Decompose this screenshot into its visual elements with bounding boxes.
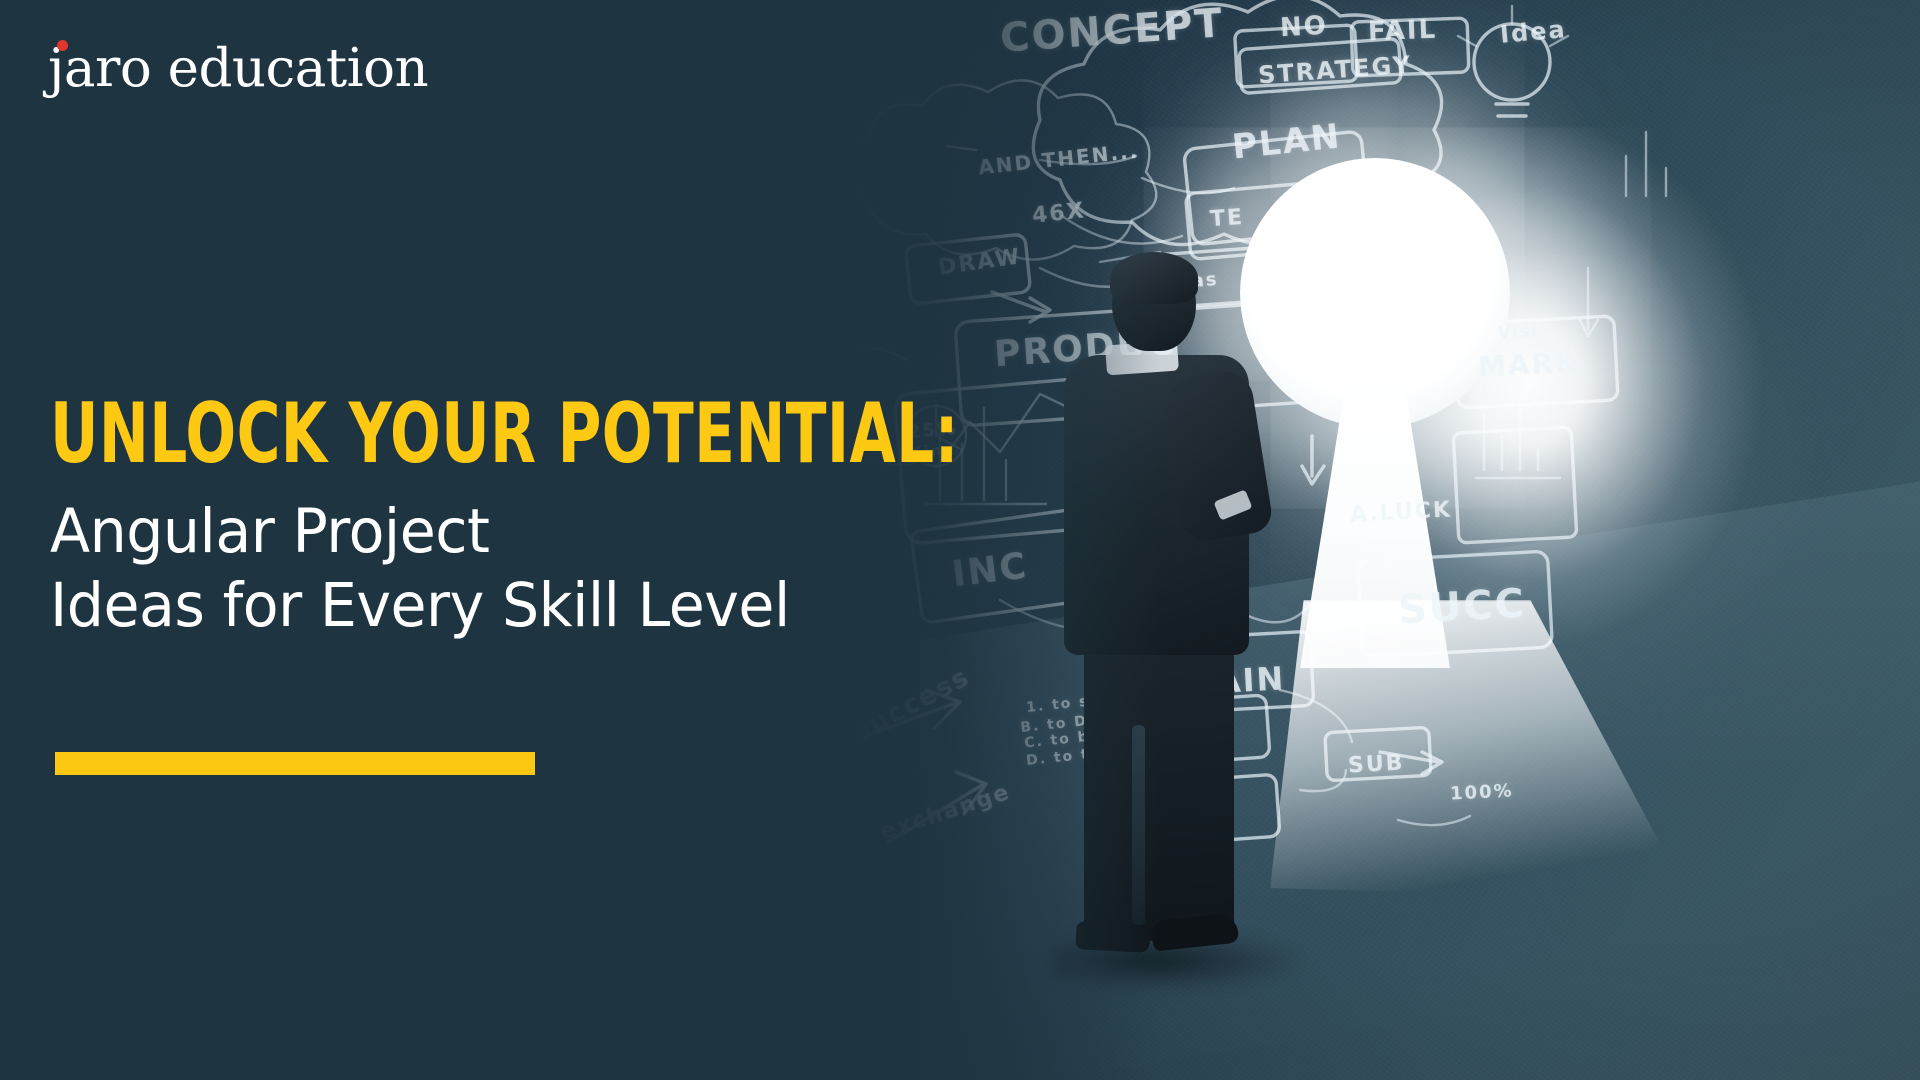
brand-logo-text: jaro education <box>48 42 428 95</box>
hero-subtitle-line-2: Ideas for Every Skill Level <box>50 569 790 643</box>
logo-dot-icon <box>57 40 68 51</box>
hero-subtitle-line-1: Angular Project <box>50 495 790 569</box>
hero-artwork: CONCEPTNOFAILIdeaSTRATEGYAND THEN...PLAN… <box>740 0 1920 1080</box>
hero-accent-rule <box>55 752 535 775</box>
brand-logo[interactable]: jaro education <box>48 42 428 95</box>
hero-headline: UNLOCK YOUR POTENTIAL: <box>50 392 959 475</box>
hero-subtitle: Angular Project Ideas for Every Skill Le… <box>50 495 821 643</box>
hero-banner: CONCEPTNOFAILIdeaSTRATEGYAND THEN...PLAN… <box>0 0 1920 1080</box>
